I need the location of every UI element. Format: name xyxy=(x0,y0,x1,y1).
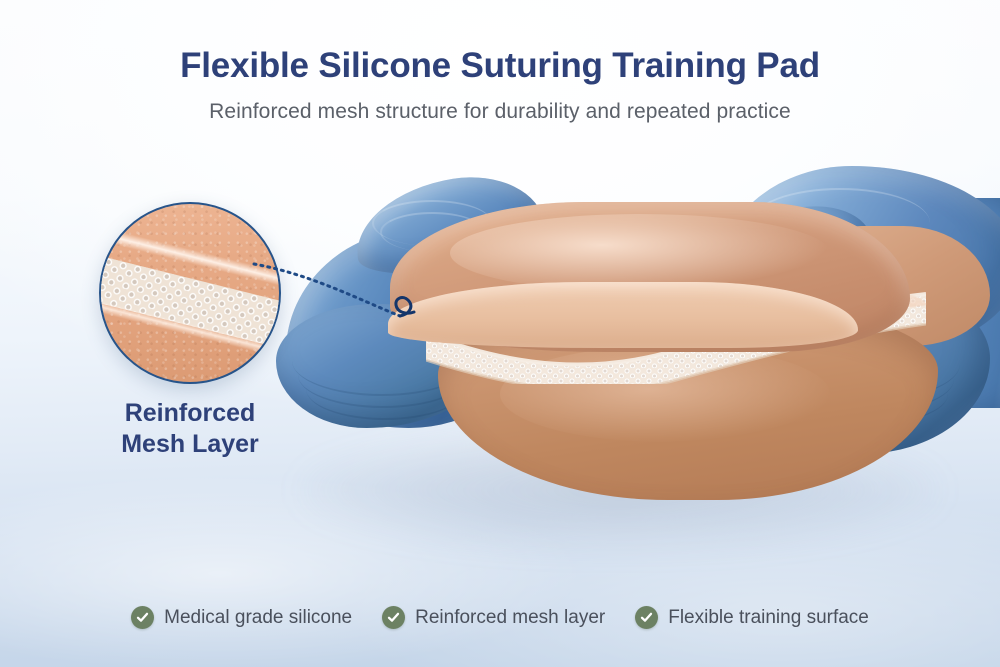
callout-leader-line xyxy=(250,230,460,340)
pad-upper-highlight xyxy=(450,214,830,292)
check-circle-icon xyxy=(382,606,405,629)
feature-list: Medical grade silicone Reinforced mesh l… xyxy=(0,606,1000,629)
feature-item: Medical grade silicone xyxy=(131,606,352,629)
product-hero-image: Flexible Silicone Suturing Training Pad … xyxy=(0,0,1000,667)
feature-label: Reinforced mesh layer xyxy=(415,607,605,629)
callout-label-line1: Reinforced xyxy=(60,398,320,429)
check-circle-icon xyxy=(131,606,154,629)
page-title: Flexible Silicone Suturing Training Pad xyxy=(0,46,1000,85)
callout-label-line2: Mesh Layer xyxy=(60,429,320,460)
feature-item: Flexible training surface xyxy=(635,606,869,629)
feature-item: Reinforced mesh layer xyxy=(382,606,605,629)
page-subtitle: Reinforced mesh structure for durability… xyxy=(0,100,1000,124)
feature-label: Flexible training surface xyxy=(668,607,869,629)
header-block: Flexible Silicone Suturing Training Pad … xyxy=(0,46,1000,124)
feature-label: Medical grade silicone xyxy=(164,607,352,629)
check-circle-icon xyxy=(635,606,658,629)
callout-label: Reinforced Mesh Layer xyxy=(60,398,320,461)
